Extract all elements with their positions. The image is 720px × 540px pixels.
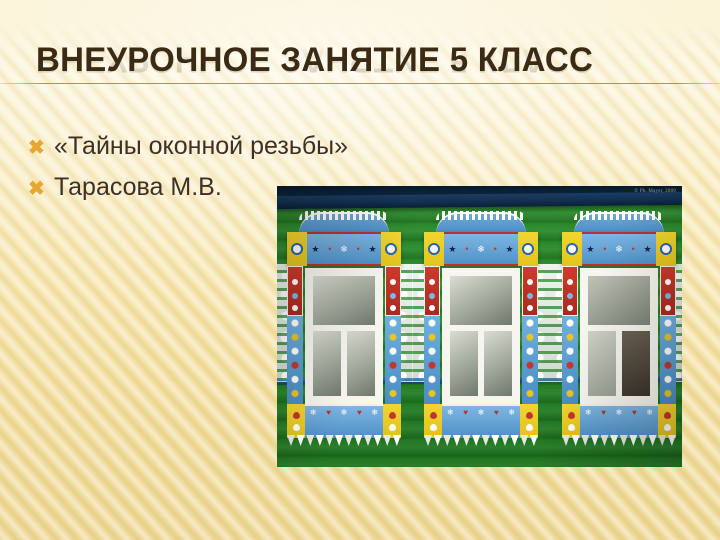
slide-title-block: Внеурочное занятие 5 класс Внеурочное за…: [36, 40, 696, 108]
cross-bullet-icon: ✖: [28, 174, 54, 204]
photo-carved-window-frames: ★ • ❄ • ★ ❄ ♥: [277, 186, 682, 467]
cross-bullet-icon: ✖: [28, 133, 54, 163]
bullet-text-topic: «Тайны оконной резьбы»: [54, 131, 348, 162]
bullet-text-author: Тарасова М.В.: [54, 172, 222, 203]
presentation-slide: Внеурочное занятие 5 класс Внеурочное за…: [0, 0, 720, 540]
photo-vignette: [277, 186, 682, 467]
photo-watermark: © Ph. Mayer, 2009: [634, 189, 676, 194]
list-item: ✖ «Тайны оконной резьбы»: [28, 131, 448, 163]
slide-title-reflection: Внеурочное занятие 5 класс: [36, 40, 676, 80]
title-divider-rule: [0, 83, 720, 84]
